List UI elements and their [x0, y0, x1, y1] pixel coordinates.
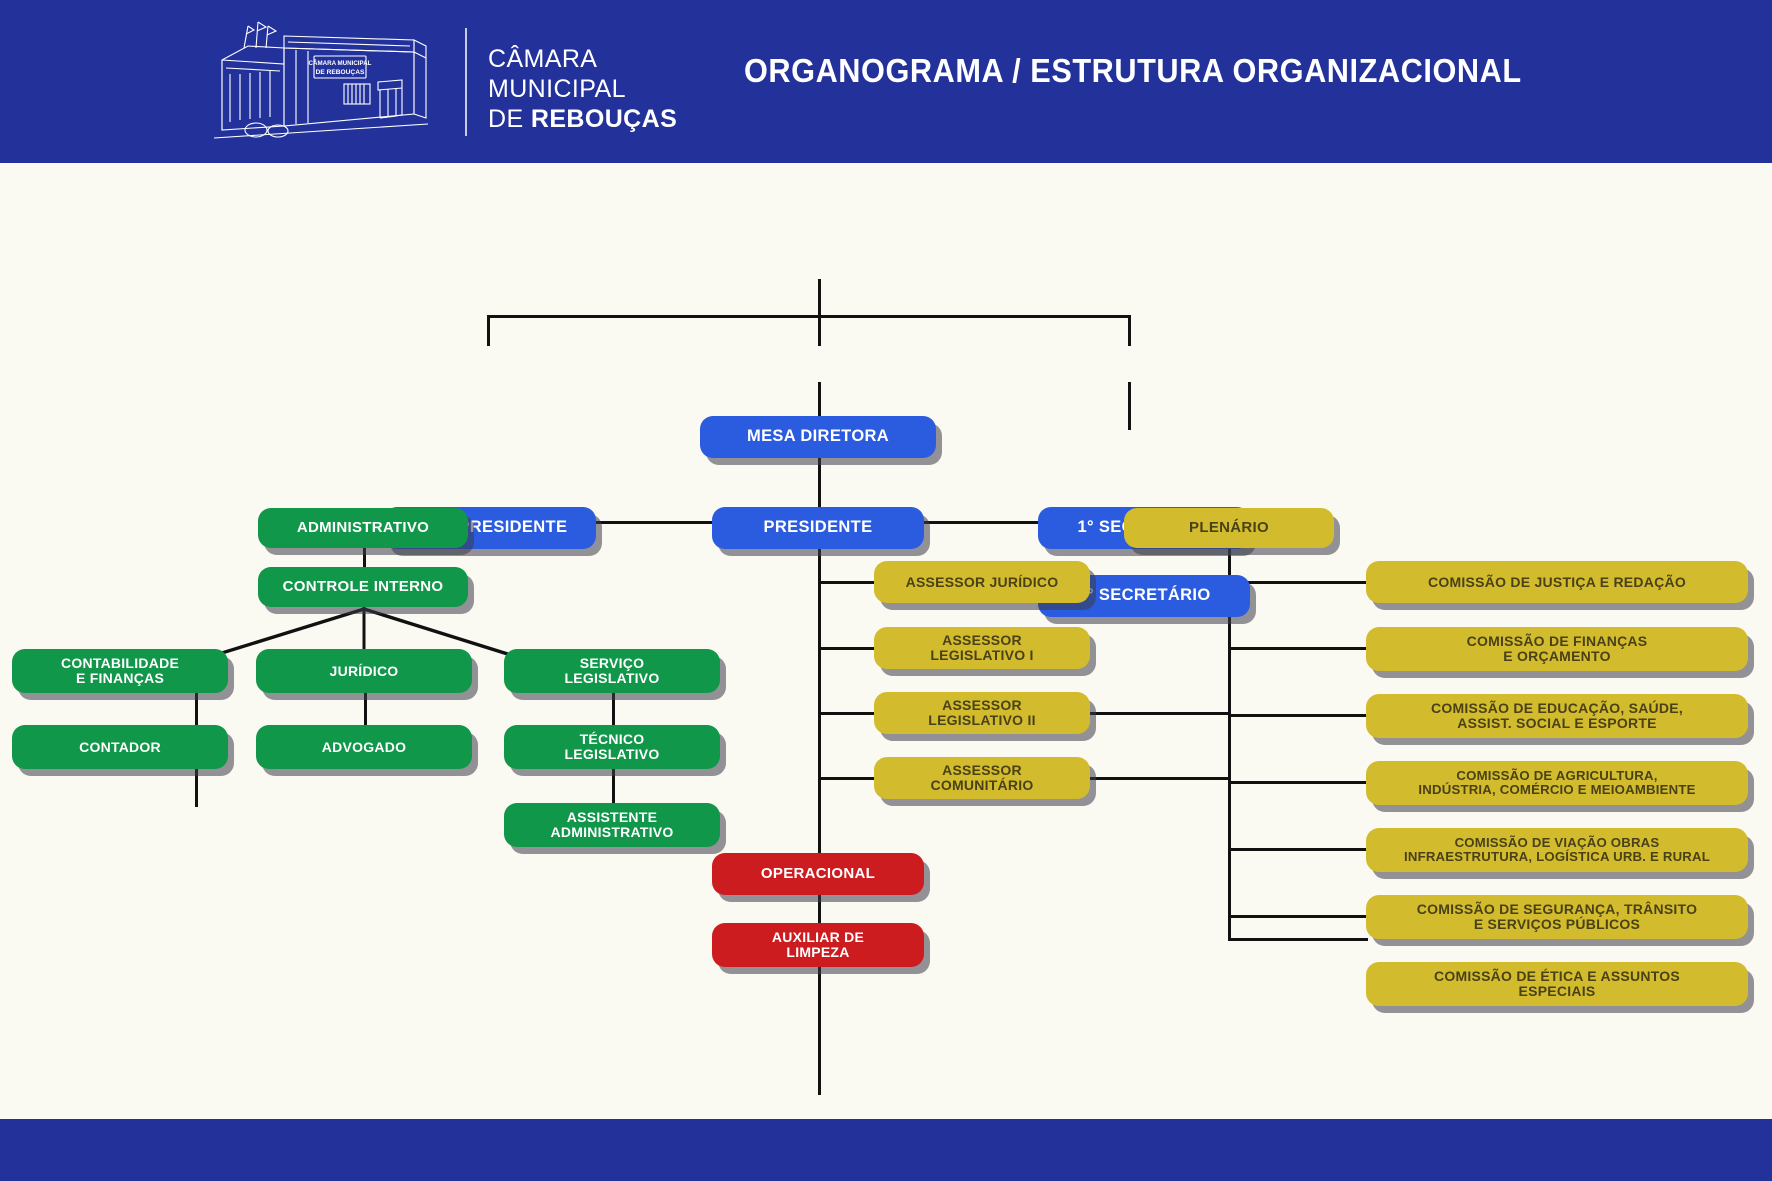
page-title: ORGANOGRAMA / ESTRUTURA ORGANIZACIONAL	[744, 52, 1522, 90]
connector-presidente-spine	[818, 382, 821, 1095]
node-advogado[interactable]: ADVOGADO	[256, 725, 472, 769]
node-auxiliar-limpeza[interactable]: AUXILIAR DE LIMPEZA	[712, 923, 924, 967]
connector-tecnico-assistente	[612, 769, 615, 807]
node-tecnico-legislativo[interactable]: TÉCNICO LEGISLATIVO	[504, 725, 720, 769]
node-comissao-financas-orcamento[interactable]: COMISSÃO DE FINANÇAS E ORÇAMENTO	[1366, 627, 1748, 671]
node-assistente-administrativo[interactable]: ASSISTENTE ADMINISTRATIVO	[504, 803, 720, 847]
connector-assessor-comunitario-right	[1089, 777, 1228, 780]
svg-text:DE REBOUÇAS: DE REBOUÇAS	[316, 69, 365, 76]
node-assessor-legislativo-ii[interactable]: ASSESSOR LEGISLATIVO II	[874, 692, 1090, 734]
node-juridico[interactable]: JURÍDICO	[256, 649, 472, 693]
connector-sec1-up	[1128, 315, 1131, 346]
connector-assessor-leg2-right	[1089, 712, 1228, 715]
organization-name: CÂMARA MUNICIPAL DE REBOUÇAS	[488, 44, 677, 134]
node-assessor-comunitario[interactable]: ASSESSOR COMUNITÁRIO	[874, 757, 1090, 799]
node-operacional[interactable]: OPERACIONAL	[712, 853, 924, 895]
node-servico-legislativo[interactable]: SERVIÇO LEGISLATIVO	[504, 649, 720, 693]
org-line-2: MUNICIPAL	[488, 74, 677, 104]
svg-text:CÂMARA MUNICIPAL: CÂMARA MUNICIPAL	[309, 60, 372, 67]
organogram-canvas: MESA DIRETORA VICE-PRESIDENTE PRESIDENTE…	[0, 163, 1772, 1119]
org-line-3: DE REBOUÇAS	[488, 104, 677, 134]
connector-commission-6	[1228, 915, 1368, 918]
connector-commission-7	[1228, 938, 1368, 941]
connector-assessor-comunitario	[818, 777, 876, 780]
page-header: CÂMARA MUNICIPAL DE REBOUÇAS	[0, 0, 1772, 163]
connector-commission-5	[1228, 848, 1368, 851]
node-assessor-legislativo-i[interactable]: ASSESSOR LEGISLATIVO I	[874, 627, 1090, 669]
page-footer	[0, 1119, 1772, 1181]
connector-commission-4	[1228, 781, 1368, 784]
node-comissao-educacao[interactable]: COMISSÃO DE EDUCAÇÃO, SAÚDE, ASSIST. SOC…	[1366, 694, 1748, 738]
node-administrativo[interactable]: ADMINISTRATIVO	[258, 508, 468, 548]
node-mesa-diretora[interactable]: MESA DIRETORA	[700, 416, 936, 458]
node-comissao-viacao[interactable]: COMISSÃO DE VIAÇÃO OBRAS INFRAESTRUTURA,…	[1366, 828, 1748, 872]
node-comissao-etica[interactable]: COMISSÃO DE ÉTICA E ASSUNTOS ESPECIAIS	[1366, 962, 1748, 1006]
node-controle-interno[interactable]: CONTROLE INTERNO	[258, 567, 468, 607]
connector-mesa-down	[818, 279, 821, 317]
connector-commission-3	[1228, 714, 1368, 717]
connector-assessor-leg2	[818, 712, 876, 715]
header-divider	[465, 28, 467, 136]
camara-building-logo-icon: CÂMARA MUNICIPAL DE REBOUÇAS	[196, 18, 436, 146]
organogram-page: CÂMARA MUNICIPAL DE REBOUÇAS	[0, 0, 1772, 1181]
connector-pres-up	[818, 315, 821, 346]
connector-assessor-juridico	[818, 581, 876, 584]
node-contador[interactable]: CONTADOR	[12, 725, 228, 769]
node-comissao-seguranca[interactable]: COMISSÃO DE SEGURANÇA, TRÂNSITO E SERVIÇ…	[1366, 895, 1748, 939]
connector-assessor-leg1	[818, 647, 876, 650]
connector-contador-tail	[195, 769, 198, 807]
org-line-1: CÂMARA	[488, 44, 677, 74]
node-comissao-justica-redacao[interactable]: COMISSÃO DE JUSTIÇA E REDAÇÃO	[1366, 561, 1748, 603]
node-plenario[interactable]: PLENÁRIO	[1124, 508, 1334, 548]
connector-sec1-sec2	[1128, 382, 1131, 430]
node-comissao-agricultura[interactable]: COMISSÃO DE AGRICULTURA, INDÚSTRIA, COMÉ…	[1366, 761, 1748, 805]
connector-commission-2	[1228, 647, 1368, 650]
node-presidente[interactable]: PRESIDENTE	[712, 507, 924, 549]
node-contabilidade-financas[interactable]: CONTABILIDADE E FINANÇAS	[12, 649, 228, 693]
node-assessor-juridico[interactable]: ASSESSOR JURÍDICO	[874, 561, 1090, 603]
